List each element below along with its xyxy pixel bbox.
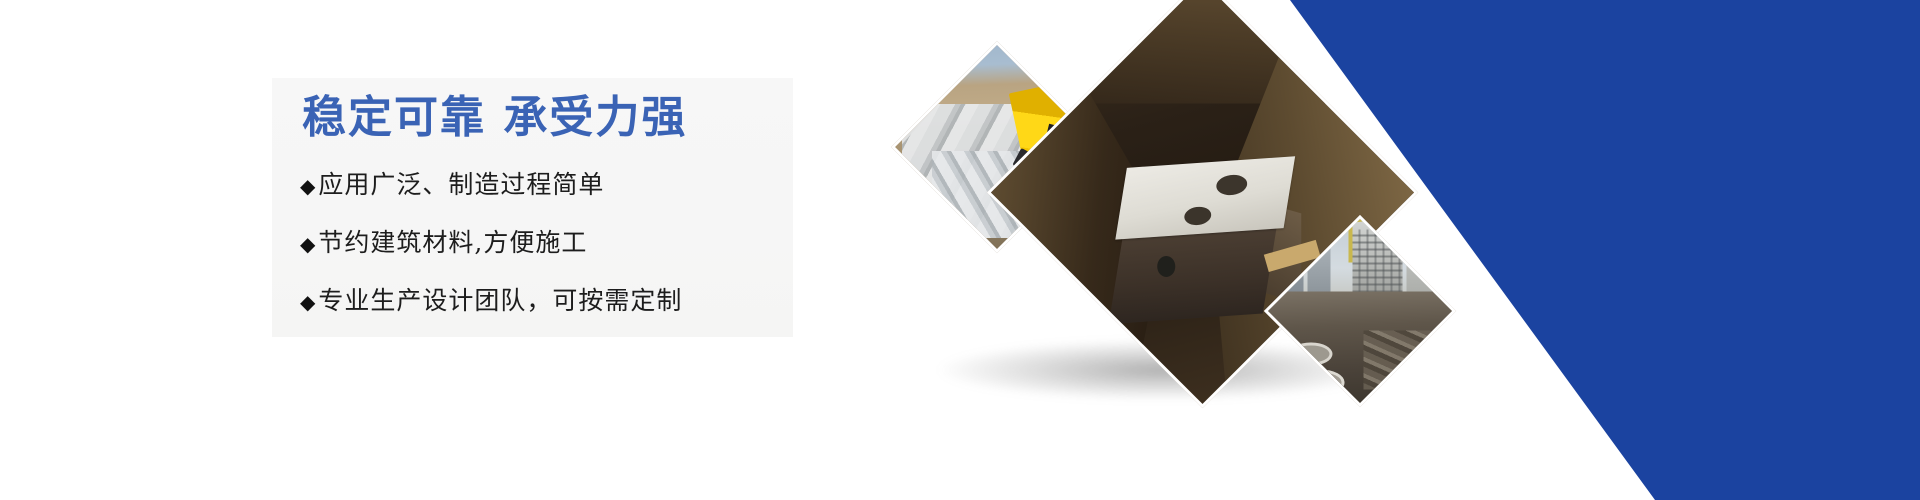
- rubble-detail: [1364, 331, 1442, 390]
- concrete-manhole-ring-detail-2: [1298, 370, 1345, 396]
- diamond-bullet-icon: ◆: [300, 174, 316, 198]
- excavated-ground-detail: [1264, 292, 1456, 408]
- building-windows-detail: [1352, 229, 1403, 295]
- photo-collage: [900, 0, 1440, 500]
- banner-headline: 稳定可靠 承受力强: [302, 96, 687, 140]
- feature-bullet-list: ◆ 应用广泛、制造过程简单 ◆ 节约建筑材料,方便施工 ◆ 专业生产设计团队，可…: [300, 170, 800, 344]
- list-item: ◆ 应用广泛、制造过程简单: [300, 170, 800, 200]
- list-item-label: 专业生产设计团队，可按需定制: [318, 286, 682, 316]
- tank-pipe-opening-detail: [1158, 255, 1176, 276]
- soil-top-detail: [1014, 0, 1400, 103]
- list-item-label: 节约建筑材料,方便施工: [318, 228, 587, 258]
- orange-marker-detail: [893, 173, 908, 188]
- diamond-bullet-icon: ◆: [300, 290, 316, 314]
- list-item-label: 应用广泛、制造过程简单: [318, 170, 604, 200]
- list-item: ◆ 专业生产设计团队，可按需定制: [300, 286, 800, 316]
- tower-crane-mast-detail: [1348, 219, 1352, 262]
- promo-banner: 稳定可靠 承受力强 ◆ 应用广泛、制造过程简单 ◆ 节约建筑材料,方便施工 ◆ …: [0, 0, 1920, 500]
- tank-top-slab-detail: [1115, 155, 1295, 238]
- diamond-bullet-icon: ◆: [300, 232, 316, 256]
- list-item: ◆ 节约建筑材料,方便施工: [300, 228, 800, 258]
